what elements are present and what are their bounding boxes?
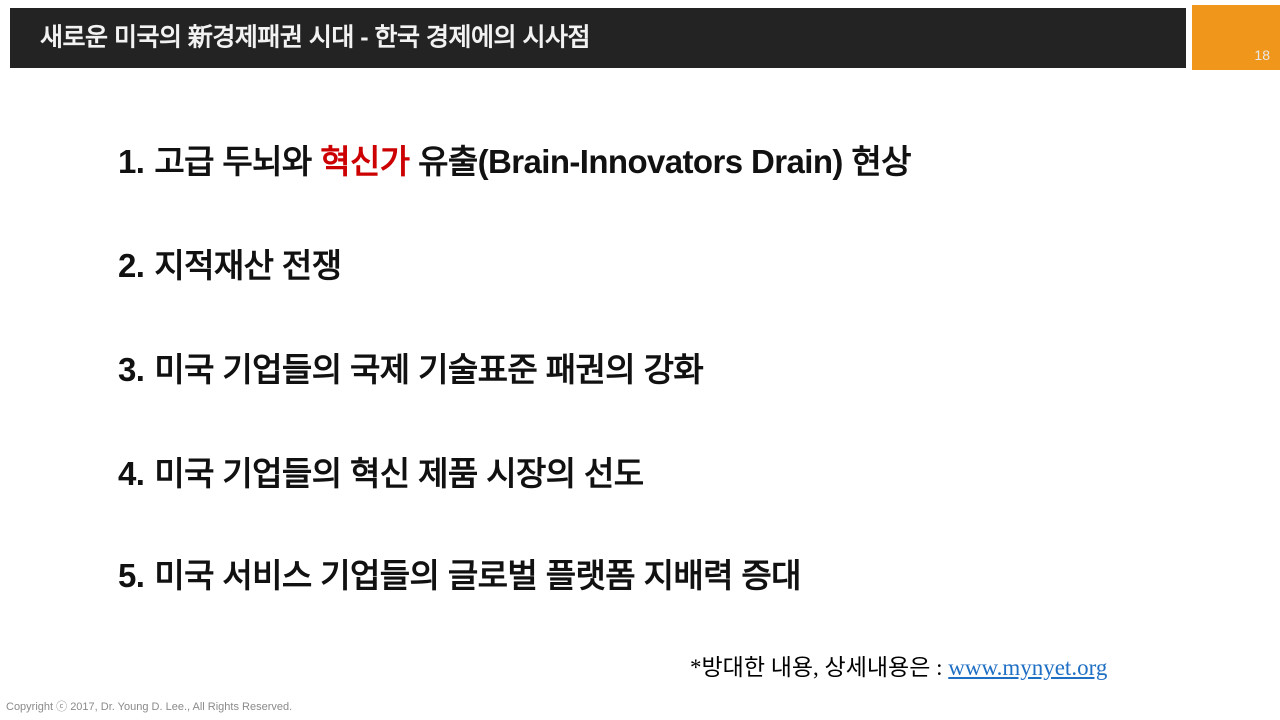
list-item-marker: 3. — [118, 352, 144, 388]
list-item-text: 미국 기업들의 혁신 제품 시장의 선도 — [154, 455, 643, 492]
list-item: 2.지적재산 전쟁 — [118, 248, 341, 284]
page-number-label: 18 — [1254, 48, 1270, 62]
list-item-text: 지적재산 전쟁 — [154, 247, 341, 284]
slide-header-bar: 새로운 미국의 新경제패권 시대 - 한국 경제에의 시사점 — [10, 8, 1186, 68]
list-item: 5.미국 서비스 기업들의 글로벌 플랫폼 지배력 증대 — [118, 558, 801, 594]
footnote: *방대한 내용, 상세내용은 : www.mynyet.org — [690, 655, 1107, 680]
list-item-highlight: 혁신가 — [320, 143, 409, 180]
slide-canvas: 새로운 미국의 新경제패권 시대 - 한국 경제에의 시사점 18 1.고급 두… — [0, 0, 1280, 720]
list-item-text-before: 고급 두뇌와 — [154, 143, 320, 180]
list-item: 3.미국 기업들의 국제 기술표준 패권의 강화 — [118, 352, 703, 388]
page-number-badge: 18 — [1192, 5, 1280, 70]
list-item-marker: 1. — [118, 144, 144, 180]
list-item-marker: 4. — [118, 456, 144, 492]
footnote-link[interactable]: www.mynyet.org — [948, 655, 1107, 680]
list-item-text-after: 유출(Brain-Innovators Drain) 현상 — [410, 143, 911, 180]
list-item: 1.고급 두뇌와 혁신가 유출(Brain-Innovators Drain) … — [118, 144, 911, 180]
list-item-text: 미국 서비스 기업들의 글로벌 플랫폼 지배력 증대 — [154, 557, 801, 594]
copyright-notice: Copyright ⓒ 2017, Dr. Young D. Lee., All… — [6, 702, 292, 713]
list-item-marker: 2. — [118, 248, 144, 284]
list-item-text: 미국 기업들의 국제 기술표준 패권의 강화 — [154, 351, 703, 388]
footnote-prefix: *방대한 내용, 상세내용은 : — [690, 655, 948, 680]
list-item: 4.미국 기업들의 혁신 제품 시장의 선도 — [118, 456, 644, 492]
slide-title: 새로운 미국의 新경제패권 시대 - 한국 경제에의 시사점 — [40, 26, 590, 51]
list-item-marker: 5. — [118, 558, 144, 594]
